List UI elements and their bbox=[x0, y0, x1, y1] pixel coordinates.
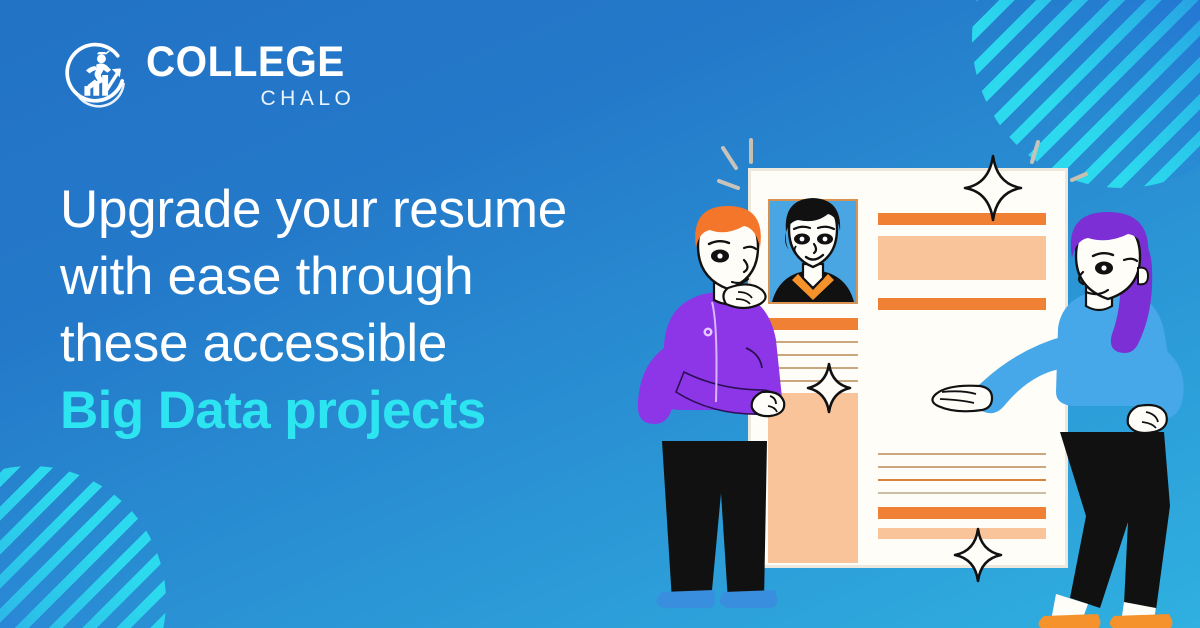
brand-logo[interactable]: COLLEGE CHALO bbox=[60, 38, 357, 112]
brand-wordmark: COLLEGE CHALO bbox=[146, 41, 357, 109]
shoe bbox=[720, 590, 777, 608]
brand-name-secondary: CHALO bbox=[146, 88, 357, 109]
sidebar-heading bbox=[768, 318, 858, 330]
graduate-on-bar-chart-circle-icon bbox=[60, 38, 134, 112]
promo-banner: COLLEGE CHALO Upgrade your resume with e… bbox=[0, 0, 1200, 628]
shoe bbox=[1110, 614, 1173, 628]
heading-bar bbox=[878, 213, 1046, 225]
heading-bar bbox=[878, 298, 1046, 310]
headline-line-1: Upgrade your resume bbox=[60, 176, 680, 243]
headline-line-3: these accessible bbox=[60, 310, 680, 377]
sidebar-filled-block bbox=[768, 393, 858, 563]
headline-block: Upgrade your resume with ease through th… bbox=[60, 176, 680, 444]
subtle-bar bbox=[878, 528, 1046, 539]
heading-bar bbox=[878, 507, 1046, 519]
shoe bbox=[656, 590, 715, 608]
applicant-portrait-photo bbox=[768, 198, 858, 304]
resume-review-illustration bbox=[620, 96, 1200, 628]
brand-name-primary: COLLEGE bbox=[146, 41, 345, 84]
striped-circle-bottom-left-decoration bbox=[0, 466, 166, 628]
filled-block bbox=[878, 236, 1046, 280]
headline-line-2: with ease through bbox=[60, 243, 680, 310]
headline-accent-line: Big Data projects bbox=[60, 377, 680, 444]
shoe bbox=[1038, 614, 1100, 628]
stripe-gradient-overlay bbox=[0, 466, 166, 628]
